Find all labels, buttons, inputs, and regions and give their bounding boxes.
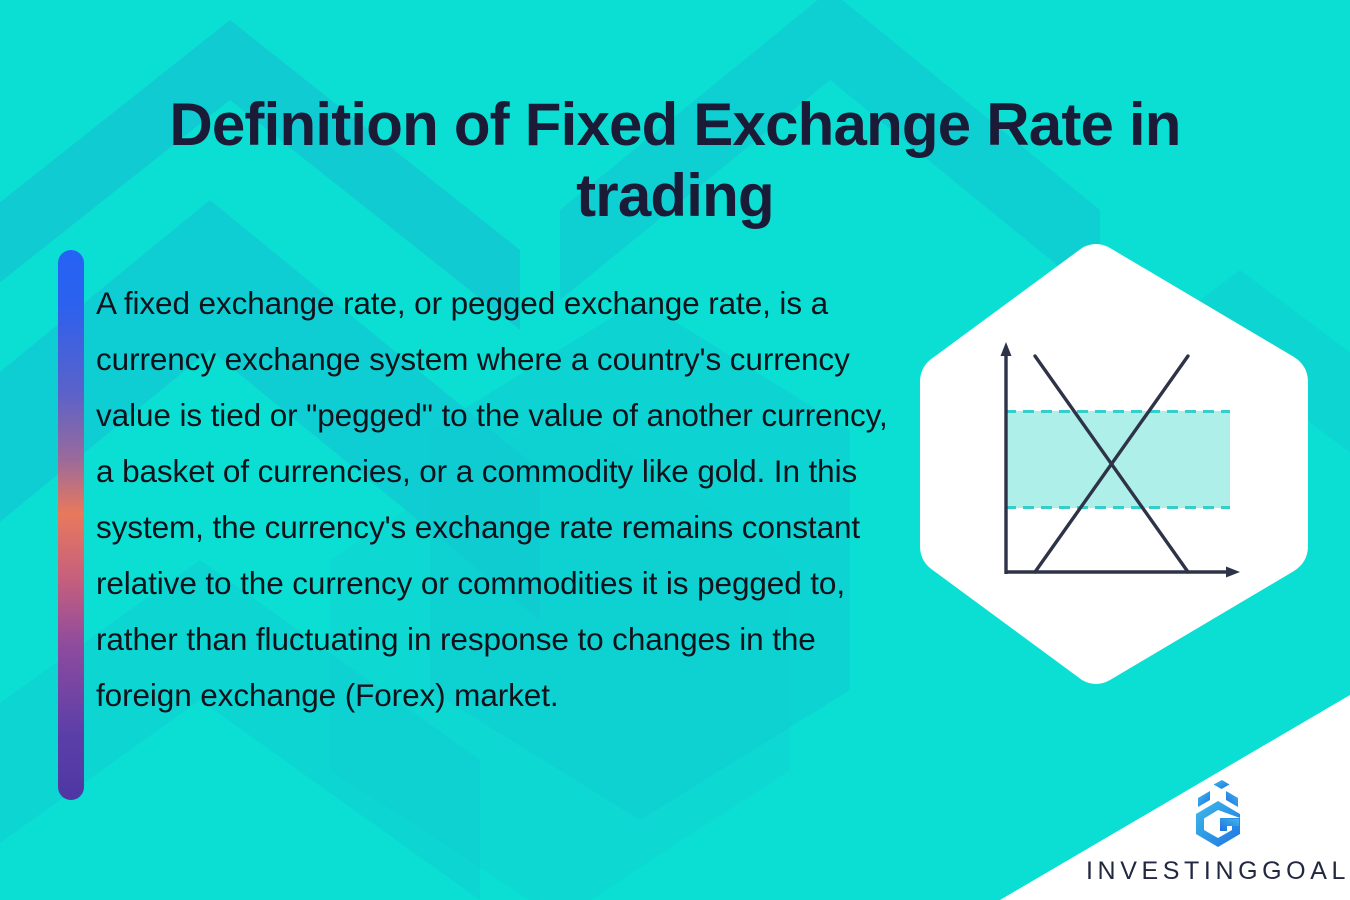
definition-paragraph: A fixed exchange rate, or pegged exchang… — [96, 275, 896, 723]
brand-wordmark: INVESTINGGOAL — [1086, 857, 1350, 886]
hexagon-illustration-card — [916, 244, 1312, 684]
brand-logo[interactable]: INVESTINGGOAL — [1098, 756, 1338, 886]
investinggoal-hexagon-logo-icon — [1182, 775, 1254, 851]
hexagon-chart-svg — [916, 244, 1312, 684]
accent-gradient-bar — [58, 250, 84, 800]
infographic-canvas: Definition of Fixed Exchange Rate in tra… — [0, 0, 1350, 900]
page-title: Definition of Fixed Exchange Rate in tra… — [80, 90, 1270, 232]
